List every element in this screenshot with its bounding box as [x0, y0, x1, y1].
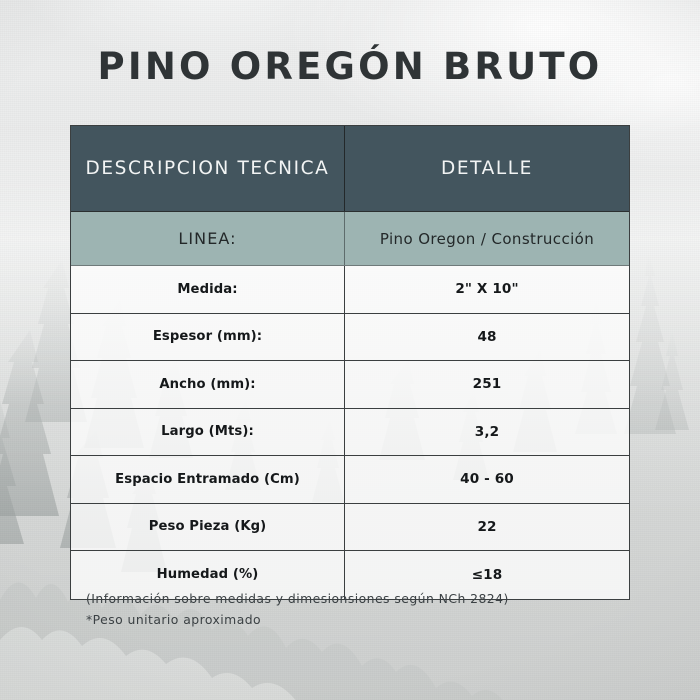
row-label: Medida:: [71, 266, 345, 313]
product-spec-sheet: PINO OREGÓN BRUTO DESCRIPCION TECNICA DE…: [0, 0, 700, 700]
footnotes: (Información sobre medidas y dimesionsio…: [86, 588, 606, 630]
table-row: Largo (Mts): 3,2: [71, 409, 629, 457]
table-row: Espacio Entramado (Cm) 40 - 60: [71, 456, 629, 504]
table-row: Espesor (mm): 48: [71, 314, 629, 362]
row-value: 3,2: [345, 409, 629, 456]
row-value: 48: [345, 314, 629, 361]
header-description-tecnica: DESCRIPCION TECNICA: [71, 126, 345, 211]
table-row-linea: LINEA: Pino Oregon / Construcción: [71, 212, 629, 266]
page-title: PINO OREGÓN BRUTO: [0, 45, 700, 88]
table-row: Medida: 2" X 10": [71, 266, 629, 314]
row-label: Espacio Entramado (Cm): [71, 456, 345, 503]
row-label: Largo (Mts):: [71, 409, 345, 456]
table-header-row: DESCRIPCION TECNICA DETALLE: [71, 126, 629, 212]
spec-table: DESCRIPCION TECNICA DETALLE LINEA: Pino …: [70, 125, 630, 600]
row-value: 251: [345, 361, 629, 408]
row-label: Peso Pieza (Kg): [71, 504, 345, 551]
header-detalle: DETALLE: [345, 126, 629, 211]
linea-value: Pino Oregon / Construcción: [345, 212, 629, 265]
footnote-norm: (Información sobre medidas y dimesionsio…: [86, 588, 606, 609]
row-label: Espesor (mm):: [71, 314, 345, 361]
linea-label: LINEA:: [71, 212, 345, 265]
row-value: 40 - 60: [345, 456, 629, 503]
row-label: Ancho (mm):: [71, 361, 345, 408]
row-value: 2" X 10": [345, 266, 629, 313]
table-row: Peso Pieza (Kg) 22: [71, 504, 629, 552]
row-value: 22: [345, 504, 629, 551]
table-row: Ancho (mm): 251: [71, 361, 629, 409]
footnote-weight: *Peso unitario aproximado: [86, 609, 606, 630]
